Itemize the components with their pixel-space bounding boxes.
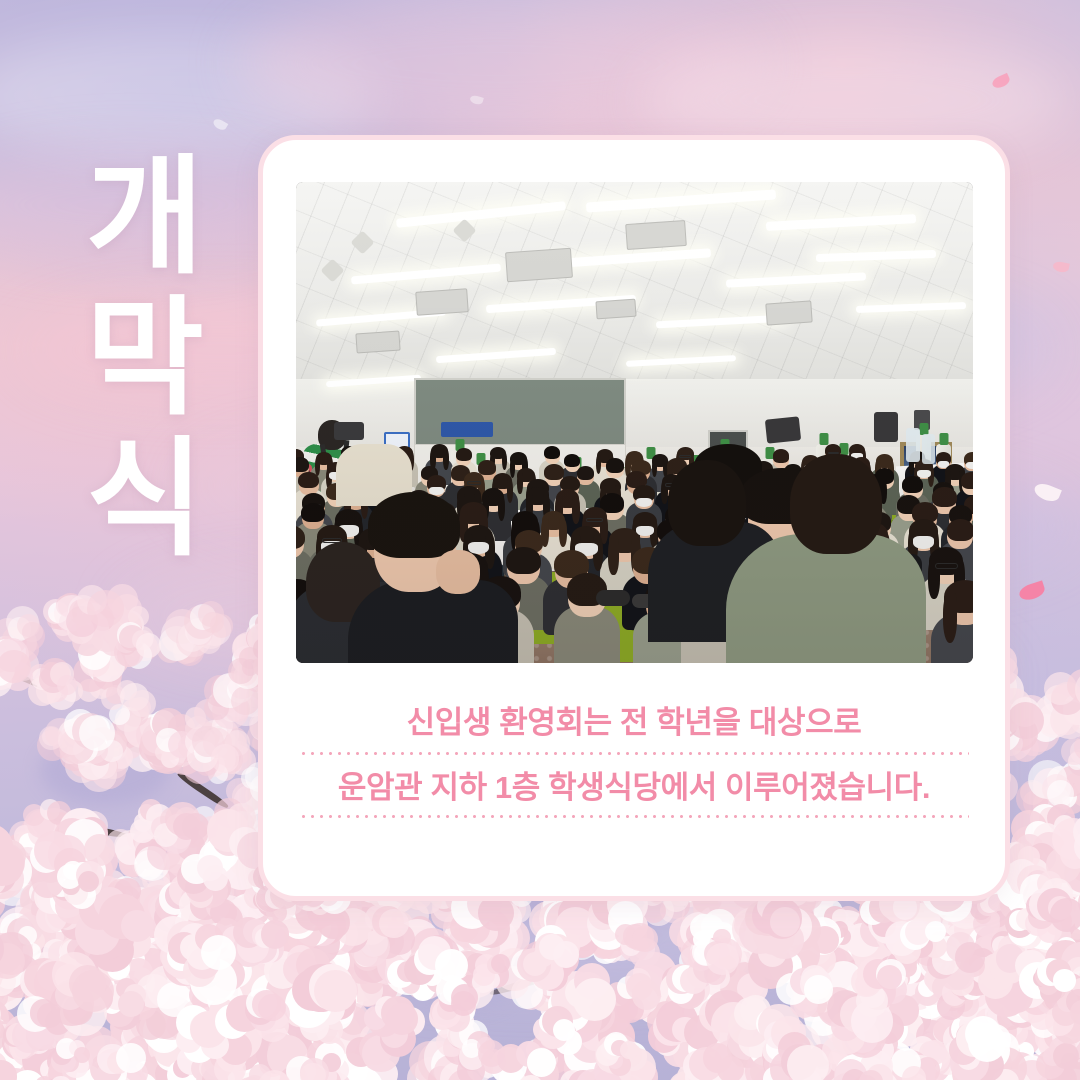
blossom [527, 1048, 556, 1077]
blossom [955, 942, 986, 973]
blossom [22, 622, 43, 643]
blossom [770, 907, 800, 937]
blossom [314, 970, 357, 1013]
poster-canvas: 개 막 식 S 신입생 환영회는 전 학년을 대상으로 운암관 지하 1층 학생… [0, 0, 1080, 1080]
blossom [717, 1056, 744, 1080]
blossom [57, 675, 77, 695]
blossom [116, 1043, 146, 1073]
blossom [553, 1019, 575, 1041]
blossom [787, 1045, 829, 1080]
blossom [1047, 780, 1074, 807]
blossom [632, 926, 658, 952]
blossom [386, 1003, 418, 1035]
blossom [74, 1047, 90, 1063]
blossom [118, 991, 144, 1017]
blossom [706, 943, 739, 976]
blossom [129, 690, 156, 717]
blossom [72, 970, 114, 1012]
blossom [201, 935, 236, 970]
blossom [632, 980, 662, 1010]
blossom [491, 954, 510, 973]
blossom [258, 994, 286, 1022]
blossom [553, 941, 580, 968]
blossom [87, 590, 124, 627]
blossom [78, 871, 99, 892]
blossom [136, 633, 161, 658]
blossom [620, 1041, 638, 1059]
blossom [481, 1049, 506, 1074]
blossom [261, 920, 290, 949]
blossom [211, 744, 240, 773]
blossom [573, 978, 616, 1021]
